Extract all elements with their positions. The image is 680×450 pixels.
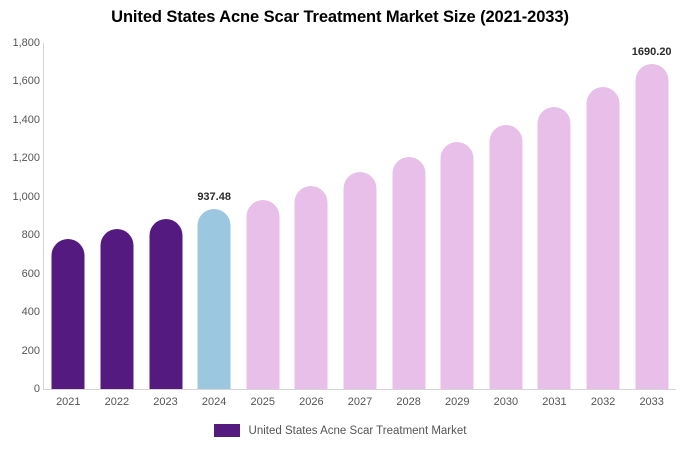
y-tick-label: 1,800 (2, 37, 40, 49)
x-tick-label: 2027 (336, 396, 385, 408)
y-tick-label: 1,000 (2, 191, 40, 203)
x-tick-label: 2021 (44, 396, 93, 408)
legend-label: United States Acne Scar Treatment Market (249, 425, 467, 437)
chart-legend: United States Acne Scar Treatment Market (0, 424, 680, 437)
x-tick-label: 2024 (190, 396, 239, 408)
x-tick-label: 2029 (433, 396, 482, 408)
x-tick-label: 2022 (93, 396, 142, 408)
y-tick-label: 800 (2, 229, 40, 241)
y-tick-label: 1,400 (2, 114, 40, 126)
x-tick-label: 2031 (530, 396, 579, 408)
y-tick-label: 200 (2, 345, 40, 357)
chart-container: United States Acne Scar Treatment Market… (0, 0, 680, 450)
y-tick-label: 1,600 (2, 75, 40, 87)
y-tick-label: 0 (2, 383, 40, 395)
y-axis-tick-labels: 02004006008001,0001,2001,4001,6001,800 (0, 0, 40, 450)
x-tick-label: 2028 (384, 396, 433, 408)
y-tick-label: 600 (2, 268, 40, 280)
x-axis-tick-labels: 2021202220232024202520262027202820292030… (44, 0, 676, 450)
x-tick-label: 2032 (579, 396, 628, 408)
x-tick-label: 2030 (482, 396, 531, 408)
x-tick-label: 2025 (238, 396, 287, 408)
x-tick-label: 2033 (627, 396, 676, 408)
legend-swatch-icon (214, 424, 240, 437)
x-tick-label: 2023 (141, 396, 190, 408)
y-tick-label: 400 (2, 306, 40, 318)
x-tick-label: 2026 (287, 396, 336, 408)
y-tick-label: 1,200 (2, 152, 40, 164)
